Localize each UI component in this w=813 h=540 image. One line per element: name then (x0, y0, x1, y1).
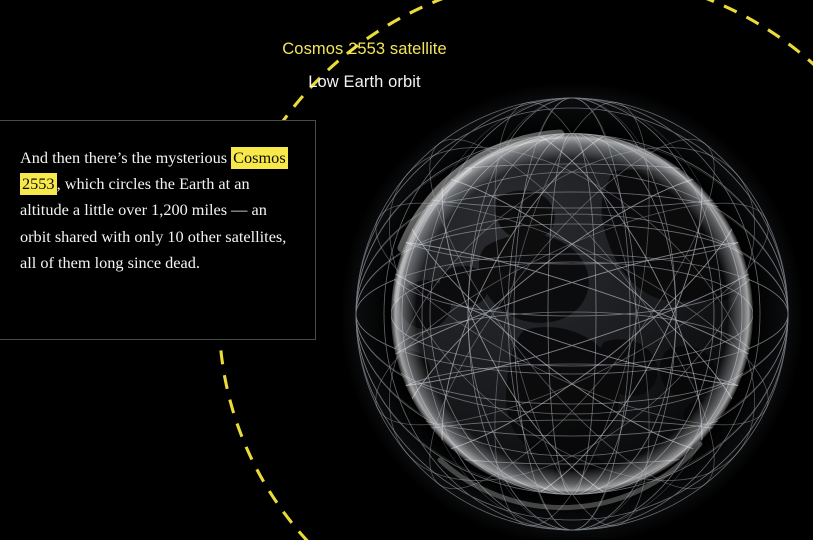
low-earth-orbit-label: Low Earth orbit (0, 73, 771, 92)
annotation-text: And then there’s the mysterious Cosmos 2… (20, 145, 295, 276)
annotation-text-prefix: And then there’s the mysterious (20, 148, 231, 167)
satellite-orbit-label: Cosmos 2553 satellite (0, 40, 771, 59)
annotation-callout: And then there’s the mysterious Cosmos 2… (0, 120, 316, 340)
annotation-text-suffix: , which circles the Earth at an altitude… (20, 174, 286, 272)
visualization-canvas: Cosmos 2553 satellite Low Earth orbit An… (0, 0, 813, 540)
